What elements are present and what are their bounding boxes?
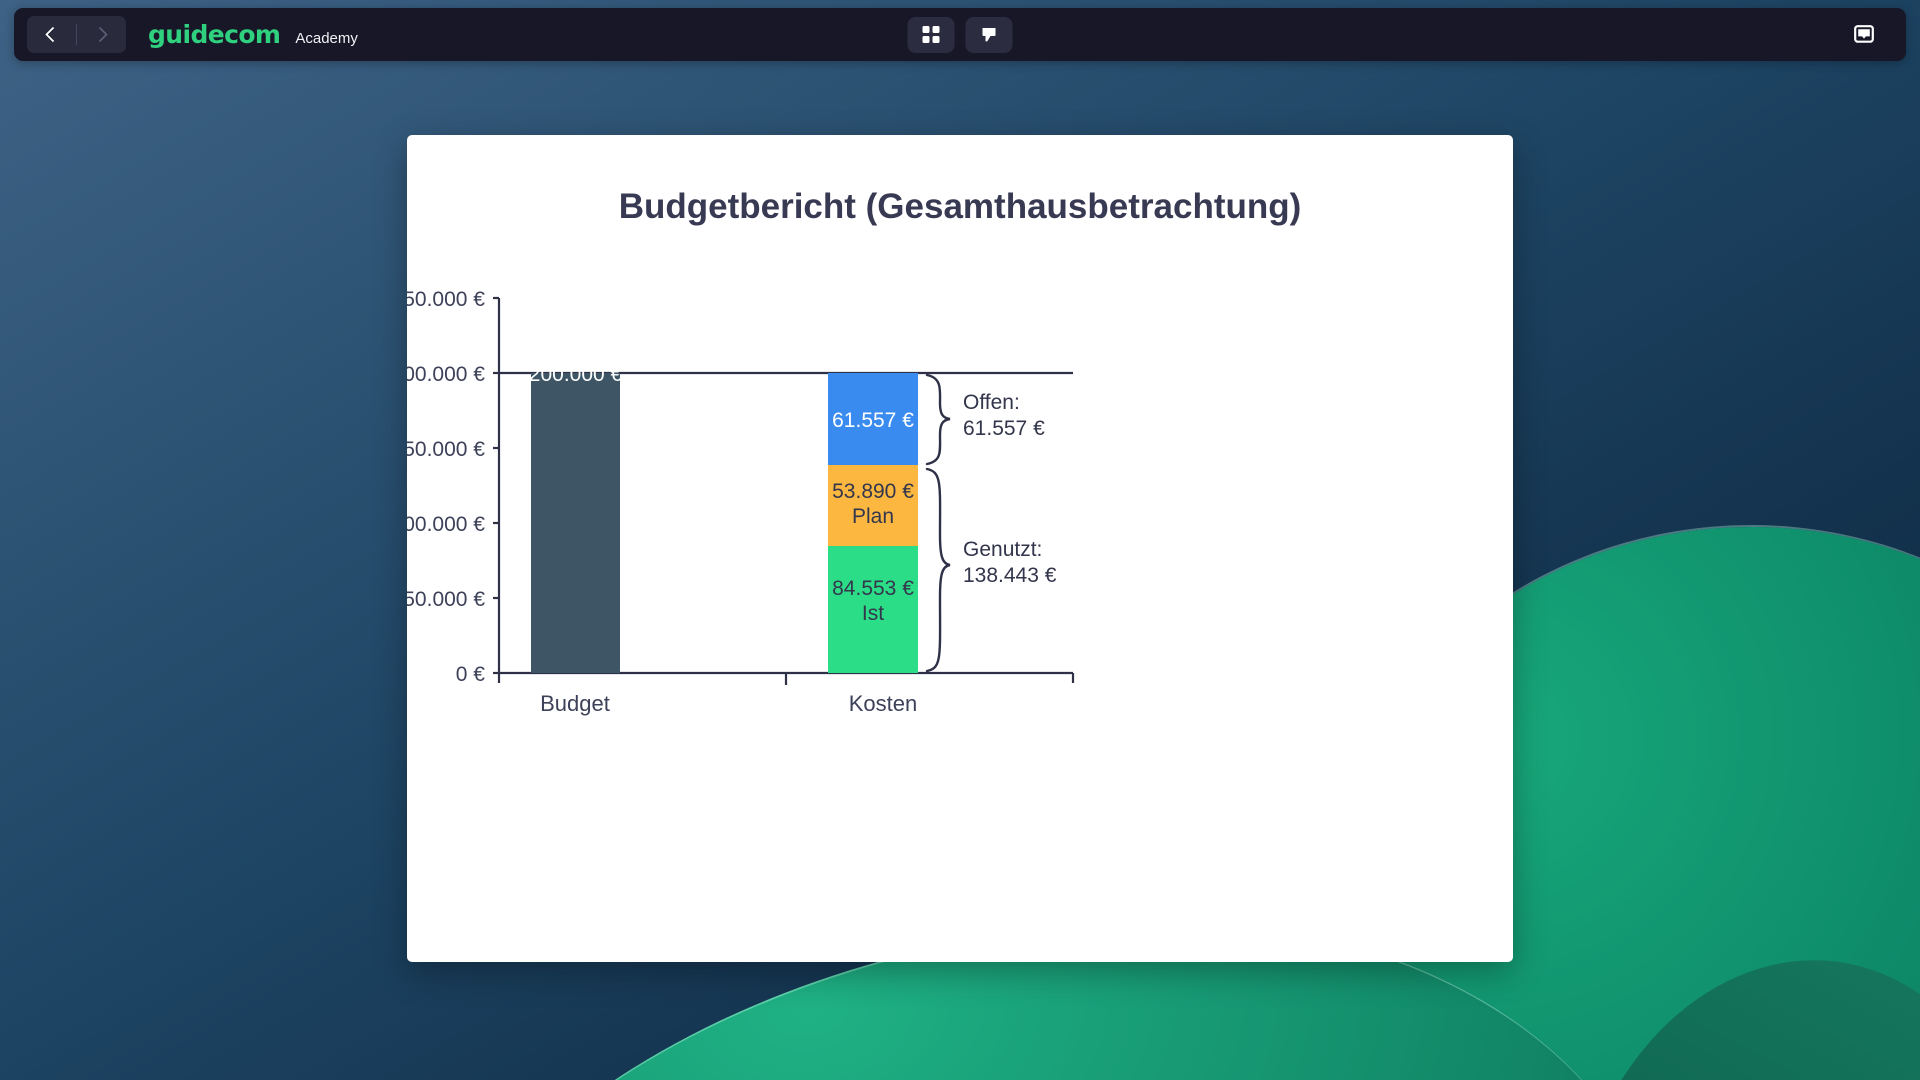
pointer-icon (980, 25, 999, 44)
y-tick-label: 100.000 € (407, 513, 485, 536)
x-tick-label-kosten: Kosten (849, 691, 918, 716)
bar-kosten-plan-sub-label: Plan (852, 505, 894, 528)
toolbar-center-group (908, 17, 1013, 53)
offen-bracket-icon (927, 375, 950, 464)
top-toolbar: guidecom Academy (14, 8, 1906, 61)
desktop-background: guidecom Academy (0, 0, 1920, 1080)
bar-budget-value-label: 200.000 € (529, 363, 623, 386)
bar-kosten-offen-value-label: 61.557 € (832, 409, 914, 432)
grid-icon (923, 26, 940, 43)
annotation-genutzt-value: 138.443 € (963, 564, 1057, 587)
forward-button[interactable] (77, 16, 126, 53)
y-tick-label: 150.000 € (407, 438, 485, 461)
x-tick-label-budget: Budget (540, 691, 610, 716)
y-tick-label: 0 € (456, 663, 486, 686)
bar-kosten-ist-sub-label: Ist (862, 602, 884, 625)
present-button[interactable] (1846, 19, 1882, 51)
annotation-genutzt-title: Genutzt: (963, 538, 1042, 561)
present-screen-icon (1853, 25, 1875, 45)
pointer-button[interactable] (966, 17, 1013, 53)
brand: guidecom Academy (148, 20, 358, 49)
chevron-left-icon (45, 27, 61, 43)
genutzt-bracket-icon (927, 469, 950, 671)
bar-kosten-ist-value-label: 84.553 € (832, 577, 914, 600)
annotation-offen-title: Offen: (963, 391, 1020, 414)
background-shape-corner (1553, 930, 1920, 1080)
annotation-offen-value: 61.557 € (963, 417, 1045, 440)
brand-logo: guidecom (148, 20, 280, 49)
navigation-group (27, 16, 126, 53)
bar-budget[interactable] (531, 373, 620, 673)
y-tick-label: 200.000 € (407, 363, 485, 386)
bar-kosten-plan-value-label: 53.890 € (832, 480, 914, 503)
toolbar-right-group (1846, 19, 1882, 51)
y-tick-label: 250.000 € (407, 288, 485, 311)
grid-view-button[interactable] (908, 17, 955, 53)
back-button[interactable] (27, 16, 76, 53)
slide-card[interactable]: Budgetbericht (Gesamthausbetrachtung) 25… (407, 135, 1513, 962)
x-axis-ticks (499, 673, 1073, 685)
budget-chart: 250.000 € 200.000 € 150.000 € 100.000 € … (407, 135, 1513, 962)
chevron-right-icon (92, 27, 108, 43)
y-axis-labels: 250.000 € 200.000 € 150.000 € 100.000 € … (407, 288, 485, 686)
brand-subtitle: Academy (295, 30, 358, 47)
y-tick-label: 50.000 € (407, 588, 485, 611)
